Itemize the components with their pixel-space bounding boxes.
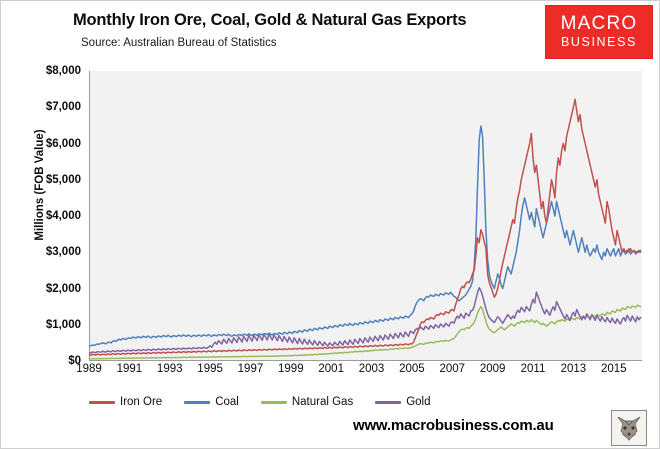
- legend-item-natural-gas[interactable]: Natural Gas: [261, 396, 353, 408]
- x-axis-tick: 2011: [521, 363, 546, 375]
- x-axis-tick: 2003: [359, 363, 385, 375]
- legend-swatch-icon: [184, 401, 210, 404]
- chart-frame: Monthly Iron Ore, Coal, Gold & Natural G…: [0, 0, 660, 449]
- y-axis-tick: $3,000: [46, 246, 81, 258]
- x-axis-tick: 1995: [197, 363, 223, 375]
- x-axis-tick: 2009: [480, 363, 506, 375]
- macrobusiness-logo: MACRO BUSINESS: [545, 5, 653, 59]
- x-axis-tick: 1989: [76, 363, 102, 375]
- brand-name-top: MACRO: [561, 14, 638, 34]
- legend-label: Gold: [406, 396, 430, 408]
- chart-source-note: Source: Australian Bureau of Statistics: [81, 37, 277, 49]
- series-line-natural-gas: [89, 305, 641, 359]
- x-axis-tick-labels: 1989199119931995199719992001200320052007…: [89, 363, 642, 381]
- series-line-iron-ore: [89, 99, 641, 355]
- legend-swatch-icon: [261, 401, 287, 404]
- x-axis-tick: 1991: [117, 363, 143, 375]
- y-axis-tick: $2,000: [46, 283, 81, 295]
- x-axis-tick: 1993: [157, 363, 183, 375]
- x-axis-tick: 2007: [439, 363, 465, 375]
- site-url[interactable]: www.macrobusiness.com.au: [353, 417, 554, 434]
- y-axis-tick: $5,000: [46, 174, 81, 186]
- x-axis-tick: 2001: [318, 363, 344, 375]
- x-axis-tick: 1997: [238, 363, 264, 375]
- legend-label: Natural Gas: [292, 396, 353, 408]
- legend-item-coal[interactable]: Coal: [184, 396, 239, 408]
- plot-area: [89, 71, 642, 361]
- series-lines: [89, 71, 642, 361]
- x-axis-tick: 2005: [399, 363, 425, 375]
- legend-swatch-icon: [375, 401, 401, 404]
- page-title: Monthly Iron Ore, Coal, Gold & Natural G…: [73, 11, 466, 30]
- y-axis-tick: $4,000: [46, 210, 81, 222]
- legend-item-gold[interactable]: Gold: [375, 396, 430, 408]
- fox-head-icon: [611, 410, 647, 446]
- y-axis-tick: $1,000: [46, 319, 81, 331]
- x-axis-tick: 1999: [278, 363, 304, 375]
- legend-swatch-icon: [89, 401, 115, 404]
- legend-label: Coal: [215, 396, 239, 408]
- y-axis-tick: $6,000: [46, 138, 81, 150]
- chart-header: Monthly Iron Ore, Coal, Gold & Natural G…: [1, 1, 660, 63]
- y-axis-tick: $7,000: [46, 101, 81, 113]
- y-axis-tick-labels: $8,000$7,000$6,000$5,000$4,000$3,000$2,0…: [1, 65, 85, 361]
- legend-item-iron-ore[interactable]: Iron Ore: [89, 396, 162, 408]
- y-axis-tick: $8,000: [46, 65, 81, 77]
- legend-label: Iron Ore: [120, 396, 162, 408]
- x-axis-tick: 2013: [561, 363, 587, 375]
- chart-legend: Iron OreCoalNatural GasGold: [89, 393, 489, 411]
- x-axis-tick: 2015: [601, 363, 627, 375]
- brand-name-bottom: BUSINESS: [561, 34, 637, 50]
